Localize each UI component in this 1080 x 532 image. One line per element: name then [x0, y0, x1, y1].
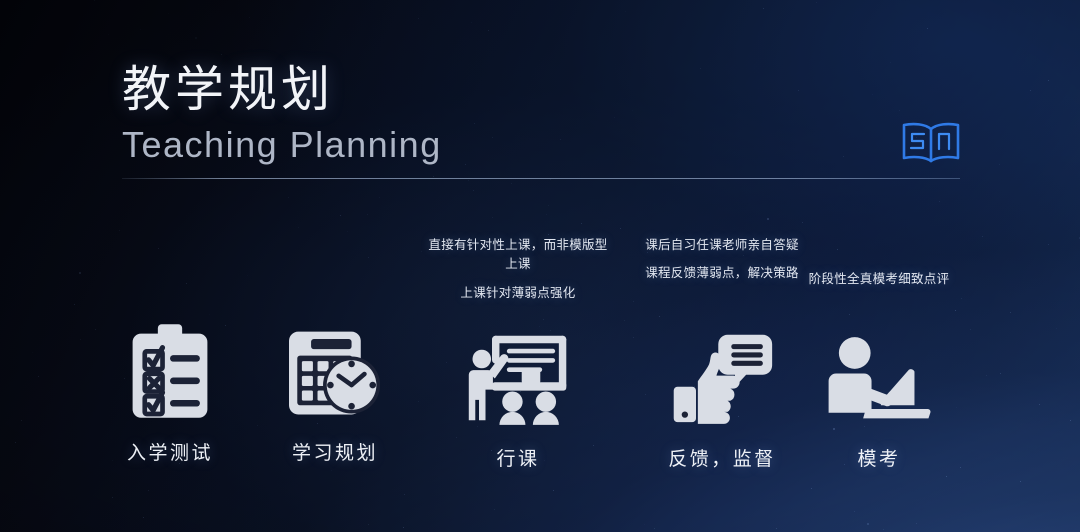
flow-step-3: 直接有针对性上课，而非模版型上课 上课针对薄弱点强化 [428, 236, 608, 471]
flow-step-label: 行课 [428, 444, 608, 471]
page-title-en: Teaching Planning [122, 124, 442, 166]
open-book-icon [899, 119, 963, 165]
thumbs-up-chat-icon [636, 322, 808, 426]
flow-step-label: 入学测试 [85, 438, 255, 465]
teacher-whiteboard-icon [428, 322, 608, 426]
flow-step-notes: 阶段性全真模考细致点评 [800, 270, 958, 312]
flow-step-notes: 课后自习任课老师亲自答疑 课程反馈薄弱点，解决策路 [636, 236, 808, 312]
note-line: 直接有针对性上课，而非模版型上课 [428, 236, 608, 275]
flow-step-2: 学习规划 [250, 316, 420, 465]
header-divider [122, 178, 960, 179]
note-line: 上课针对薄弱点强化 [428, 284, 608, 303]
process-flow: 入学测试 [0, 236, 1080, 476]
page-header: 教学规划 Teaching Planning [122, 62, 442, 166]
flow-step-notes: 直接有针对性上课，而非模版型上课 上课针对薄弱点强化 [428, 236, 608, 312]
flow-step-label: 模考 [800, 444, 958, 471]
flow-step-5: 阶段性全真模考细致点评 模考 [800, 270, 958, 471]
clipboard-checklist-icon [85, 316, 255, 420]
calendar-clock-icon [250, 316, 420, 420]
note-line: 课后自习任课老师亲自答疑 [636, 236, 808, 255]
flow-step-label: 反馈，监督 [636, 444, 808, 471]
note-line: 阶段性全真模考细致点评 [800, 270, 958, 289]
flow-step-label: 学习规划 [250, 438, 420, 465]
page-title-cn: 教学规划 [122, 62, 442, 119]
person-laptop-icon [800, 322, 958, 426]
note-line: 课程反馈薄弱点，解决策路 [636, 264, 808, 283]
flow-step-4: 课后自习任课老师亲自答疑 课程反馈薄弱点，解决策路 [636, 236, 808, 471]
slide-canvas: 教学规划 Teaching Planning [0, 0, 1080, 532]
flow-step-1: 入学测试 [85, 316, 255, 465]
